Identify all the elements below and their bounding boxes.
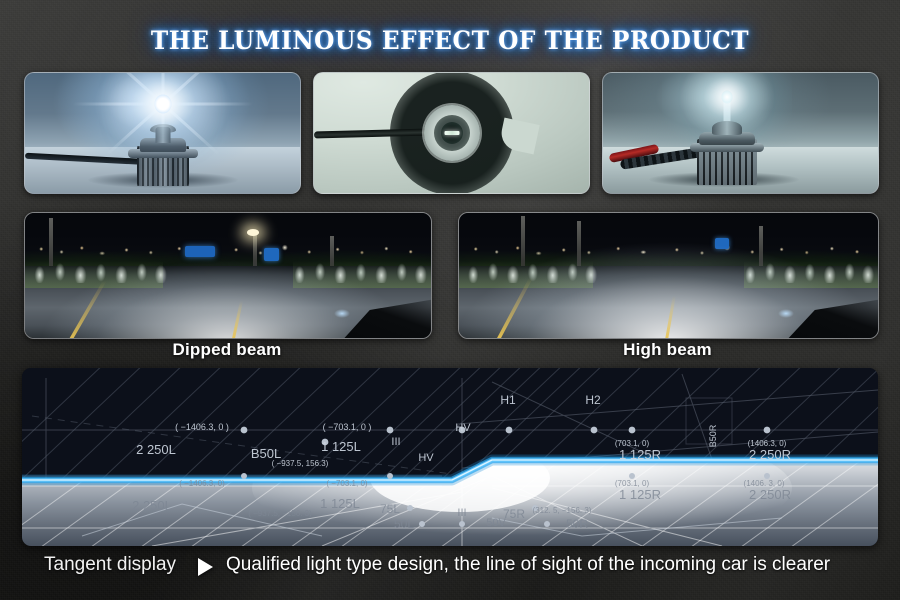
high-beam-caption: High beam [458,340,877,360]
diagram-label: HV [455,422,471,434]
diagram-label: ( −1406.3, 0) [179,479,225,488]
dipped-beam-caption: Dipped beam [24,340,430,360]
diagram-label: 1 125L [320,496,360,511]
tangent-display-label: Tangent display [44,554,176,576]
led-core-glow [721,91,732,104]
diagram-label: ( −703.1, 0) [326,479,367,488]
diagram-label: 1 125R [619,447,661,462]
diagram-label: 1 125R [619,487,661,502]
bulb-dome [712,121,742,135]
diagram-label: HV [418,452,434,464]
bulb-neck [155,127,170,143]
product-photo-bulb-glowing [24,72,301,194]
diagram-label: H2 [585,393,601,407]
hood-glint [334,309,350,318]
high-beam-photo [458,212,879,339]
led-core-glow [154,95,171,114]
page-title: THE LUMINOUS EFFECT OF THE PRODUCT [32,26,869,55]
diagram-label: 75R [503,507,525,521]
footer-slogan: Qualified light type design, the line of… [226,554,830,576]
diagram-label: 2 250L [136,442,176,457]
dipped-beam-photo [24,212,432,339]
diagram-label: 2 250R [749,447,791,462]
diagram-label: 75L [380,502,400,516]
footer-bar: Tangent display Qualified light type des… [0,546,900,600]
diagram-label: 2 250L [132,498,172,513]
diagram-label: (312. 5, −156. 3) [533,506,592,515]
play-arrow-icon [198,558,213,576]
product-photo-bulb-top-down [313,72,590,194]
beam-pattern-svg: ( −1406.3, 0 )( −703.1, 0 )HV2 250LB50L1… [22,368,878,546]
diagram-label: ( −937.5, −156. 3) [248,509,312,518]
led-chip [444,131,459,135]
diagram-label: B50R [708,424,718,447]
product-photo-bulb-with-connector [602,72,879,194]
diagram-label: III [391,436,400,448]
diagram-label: H1 [500,393,516,407]
tangent-beam-pattern-diagram: ( −1406.3, 0 )( −703.1, 0 )HV2 250LB50L1… [22,368,878,546]
diagram-label: 50R [566,517,588,531]
diagram-label: ( −1406.3, 0 ) [175,422,229,432]
diagram-label: ( −703.1, 0 ) [323,422,372,432]
diagram-label: ( −937.5, 156.3) [272,459,329,468]
diagram-label: 2 250R [749,487,791,502]
diagram-label: III [457,507,466,519]
diagram-label: 50L [394,517,414,531]
diagram-label: 1 125L [321,439,361,454]
